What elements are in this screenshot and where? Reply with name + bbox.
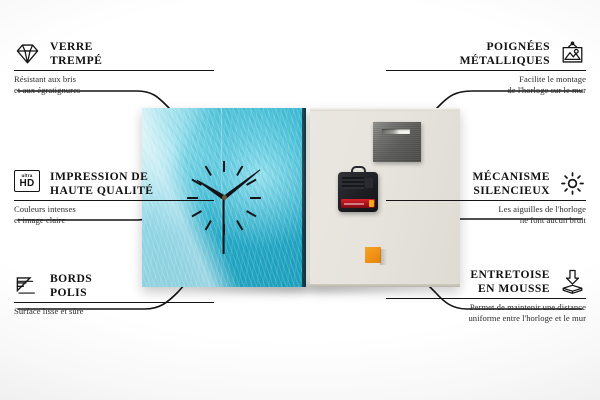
callout-subtitle: Couleurs intenses et image claire xyxy=(14,204,214,226)
mechanism-hanging-loop xyxy=(351,166,366,175)
callout-rule xyxy=(386,298,586,299)
callout-title: ENTRETOISE EN MOUSSE xyxy=(470,268,550,295)
callout-subtitle: Les aiguilles de l'horloge ne font aucun… xyxy=(386,204,586,226)
title-line-1: IMPRESSION DE xyxy=(50,170,148,183)
title-line-2: EN MOUSSE xyxy=(478,282,550,295)
callout-subtitle: Résistant aux bris et aux égratignures xyxy=(14,74,214,96)
second-hand xyxy=(223,198,225,254)
quartz-mechanism-box xyxy=(338,172,378,212)
callout-entretoise-en-mousse: ENTRETOISE EN MOUSSE Permet de maintenir… xyxy=(386,268,586,324)
callout-title: POIGNÉES MÉTALLIQUES xyxy=(460,40,550,67)
title-line-2: POLIS xyxy=(50,286,87,299)
sub-line-2: et image claire xyxy=(14,215,65,225)
minute-hand xyxy=(223,168,262,199)
callout-title: VERRE TREMPÉ xyxy=(50,40,102,67)
title-line-1: BORDS xyxy=(50,272,92,285)
metal-hanger-plate xyxy=(373,122,421,162)
title-line-2: SILENCIEUX xyxy=(473,184,550,197)
infographic-canvas: VERRE TREMPÉ Résistant aux bris et aux é… xyxy=(0,0,600,400)
hanger-keyhole-slot xyxy=(382,129,410,134)
callout-subtitle: Surface lisse et sûre xyxy=(14,306,214,317)
title-line-2: TREMPÉ xyxy=(50,54,102,67)
title-line-2: MÉTALLIQUES xyxy=(460,54,550,67)
sub-line-1: Couleurs intenses xyxy=(14,204,76,214)
hand-cap xyxy=(222,195,227,200)
hd-label: HD xyxy=(19,179,34,189)
sub-line-2: de l'horloge sur le mur xyxy=(507,85,586,95)
callout-header: VERRE TREMPÉ xyxy=(14,40,214,67)
ultra-hd-box: ultra HD xyxy=(14,170,40,192)
title-line-1: ENTRETOISE xyxy=(470,268,550,281)
polished-edges-icon xyxy=(14,272,41,299)
foam-spacer-icon xyxy=(559,268,586,295)
title-line-1: POIGNÉES xyxy=(486,40,550,53)
foam-spacer-pad xyxy=(365,247,381,263)
callout-subtitle: Permet de maintenir une distance uniform… xyxy=(386,302,586,324)
callout-rule xyxy=(14,200,214,201)
ultra-hd-icon: ultra HD xyxy=(14,170,41,197)
callout-rule xyxy=(386,70,586,71)
picture-hanger-icon xyxy=(559,40,586,67)
sub-line-2: et aux égratignures xyxy=(14,85,80,95)
sub-line-1: Permet de maintenir une distance xyxy=(470,302,586,312)
callout-header: POIGNÉES MÉTALLIQUES xyxy=(386,40,586,67)
callout-title: IMPRESSION DE HAUTE QUALITÉ xyxy=(50,170,153,197)
title-line-2: HAUTE QUALITÉ xyxy=(50,184,153,197)
callout-poignees-metalliques: POIGNÉES MÉTALLIQUES Facilite le montage… xyxy=(386,40,586,96)
callout-header: MÉCANISME SILENCIEUX xyxy=(386,170,586,197)
mechanism-ribs xyxy=(342,177,364,189)
callout-rule xyxy=(14,302,214,303)
callout-header: ultra HD IMPRESSION DE HAUTE QUALITÉ xyxy=(14,170,214,197)
sub-line-1: Surface lisse et sûre xyxy=(14,306,84,316)
panel-top-edge xyxy=(310,108,460,111)
callout-header: ENTRETOISE EN MOUSSE xyxy=(386,268,586,295)
aa-battery xyxy=(341,199,375,208)
title-line-1: MÉCANISME xyxy=(473,170,550,183)
sub-line-2: uniforme entre l'horloge et le mur xyxy=(468,313,586,323)
callout-header: BORDS POLIS xyxy=(14,272,214,299)
callout-rule xyxy=(14,70,214,71)
callout-title: BORDS POLIS xyxy=(50,272,92,299)
sub-line-2: ne font aucun bruit xyxy=(520,215,586,225)
callout-rule xyxy=(386,200,586,201)
callout-verre-trempe: VERRE TREMPÉ Résistant aux bris et aux é… xyxy=(14,40,214,96)
callout-impression-haute-qualite: ultra HD IMPRESSION DE HAUTE QUALITÉ Cou… xyxy=(14,170,214,226)
callout-title: MÉCANISME SILENCIEUX xyxy=(473,170,550,197)
callout-mecanisme-silencieux: MÉCANISME SILENCIEUX Les aiguilles de l'… xyxy=(386,170,586,226)
diamond-icon xyxy=(14,40,41,67)
sub-line-1: Facilite le montage xyxy=(519,74,586,84)
sub-line-1: Les aiguilles de l'horloge xyxy=(498,204,586,214)
sub-line-1: Résistant aux bris xyxy=(14,74,76,84)
callout-subtitle: Facilite le montage de l'horloge sur le … xyxy=(386,74,586,96)
title-line-1: VERRE xyxy=(50,40,93,53)
mechanism-chip xyxy=(365,178,373,188)
callout-bords-polis: BORDS POLIS Surface lisse et sûre xyxy=(14,272,214,317)
metal-grain xyxy=(373,122,421,162)
gear-icon xyxy=(559,170,586,197)
